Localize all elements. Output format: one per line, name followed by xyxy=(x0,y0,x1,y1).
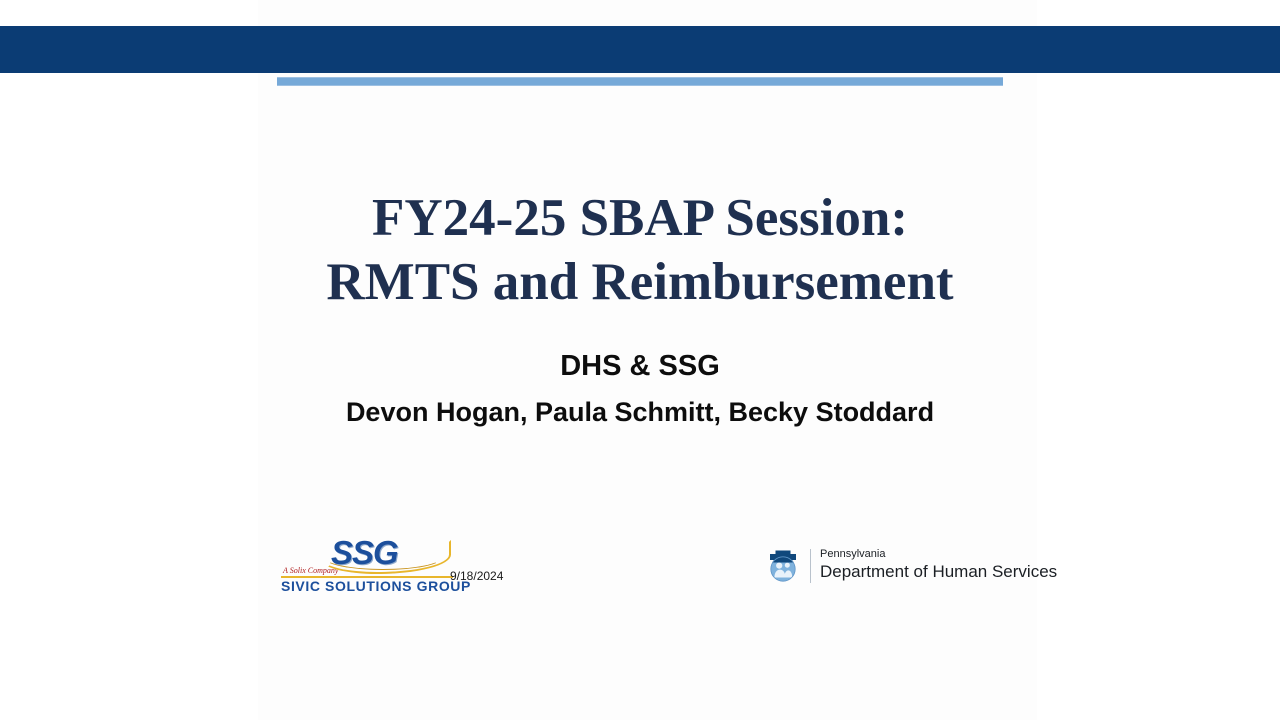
slide-subtitle: DHS & SSG Devon Hogan, Paula Schmitt, Be… xyxy=(278,346,1002,431)
slide-date: 9/18/2024 xyxy=(450,568,503,584)
dhs-divider xyxy=(810,549,811,583)
dhs-state-name: Pennsylvania xyxy=(820,548,1057,561)
slide-footer: SSG A Solix Company SIVIC SOLUTIONS GROU… xyxy=(258,535,1037,595)
accent-rule xyxy=(277,77,1003,86)
top-navy-banner xyxy=(0,26,1280,73)
title-line-1: FY24-25 SBAP Session: xyxy=(278,186,1002,250)
ssg-full-name: SIVIC SOLUTIONS GROUP xyxy=(281,577,471,595)
page-title: FY24-25 SBAP Session: RMTS and Reimburse… xyxy=(278,186,1002,314)
subtitle-organizations: DHS & SSG xyxy=(278,346,1002,386)
subtitle-presenters: Devon Hogan, Paula Schmitt, Becky Stodda… xyxy=(278,394,1002,431)
dhs-wordmark: Pennsylvania Department of Human Service… xyxy=(820,548,1057,582)
ssg-logo: SSG A Solix Company SIVIC SOLUTIONS GROU… xyxy=(275,538,455,588)
ssg-monogram: SSG xyxy=(331,536,398,569)
presentation-slide: FY24-25 SBAP Session: RMTS and Reimburse… xyxy=(0,0,1280,720)
title-line-2: RMTS and Reimbursement xyxy=(278,250,1002,314)
pa-keystone-family-icon xyxy=(764,547,802,585)
ssg-swoosh-icon: SSG xyxy=(321,538,449,568)
pa-dhs-logo: Pennsylvania Department of Human Service… xyxy=(764,547,1014,589)
dhs-department-name: Department of Human Services xyxy=(820,561,1057,582)
